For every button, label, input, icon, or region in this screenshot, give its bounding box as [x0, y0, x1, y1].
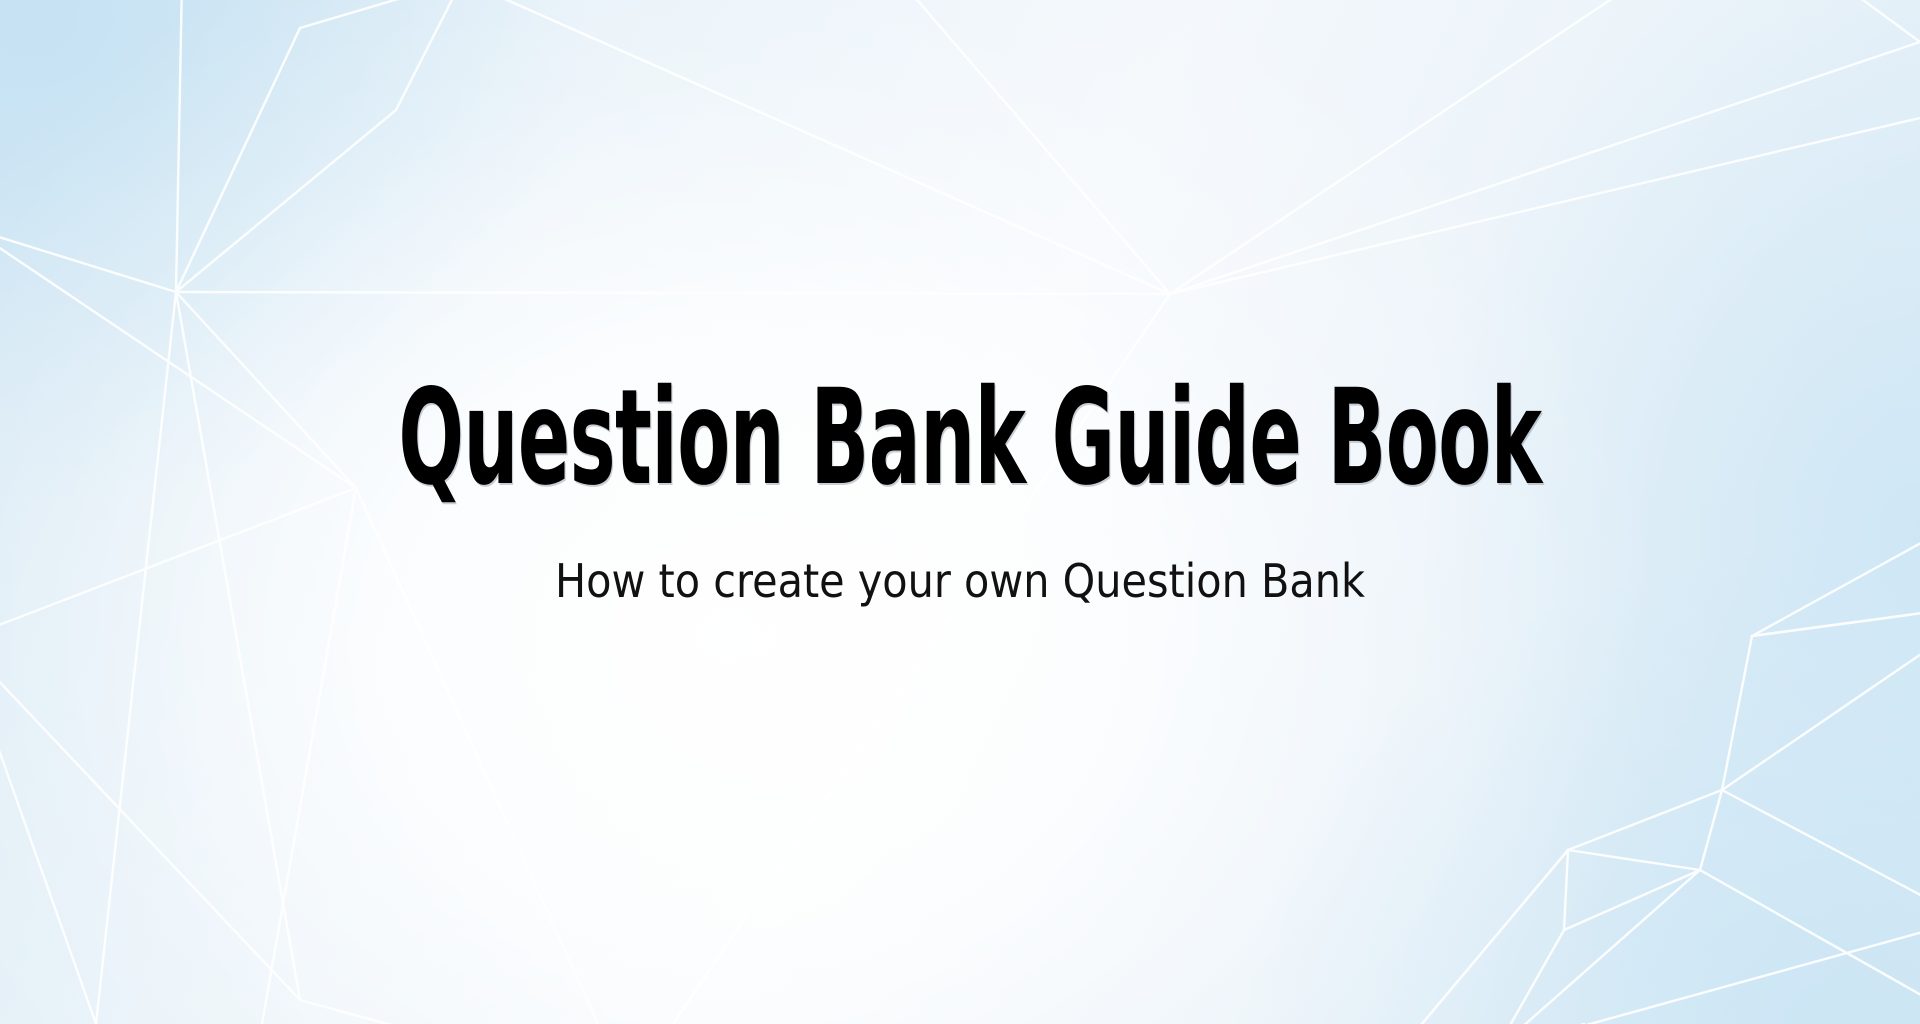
- title-slide: Question Bank Guide Book How to create y…: [0, 0, 1920, 1024]
- page-title: Question Bank Guide Book: [398, 372, 1521, 504]
- page-subtitle: How to create your own Question Bank: [96, 553, 1824, 611]
